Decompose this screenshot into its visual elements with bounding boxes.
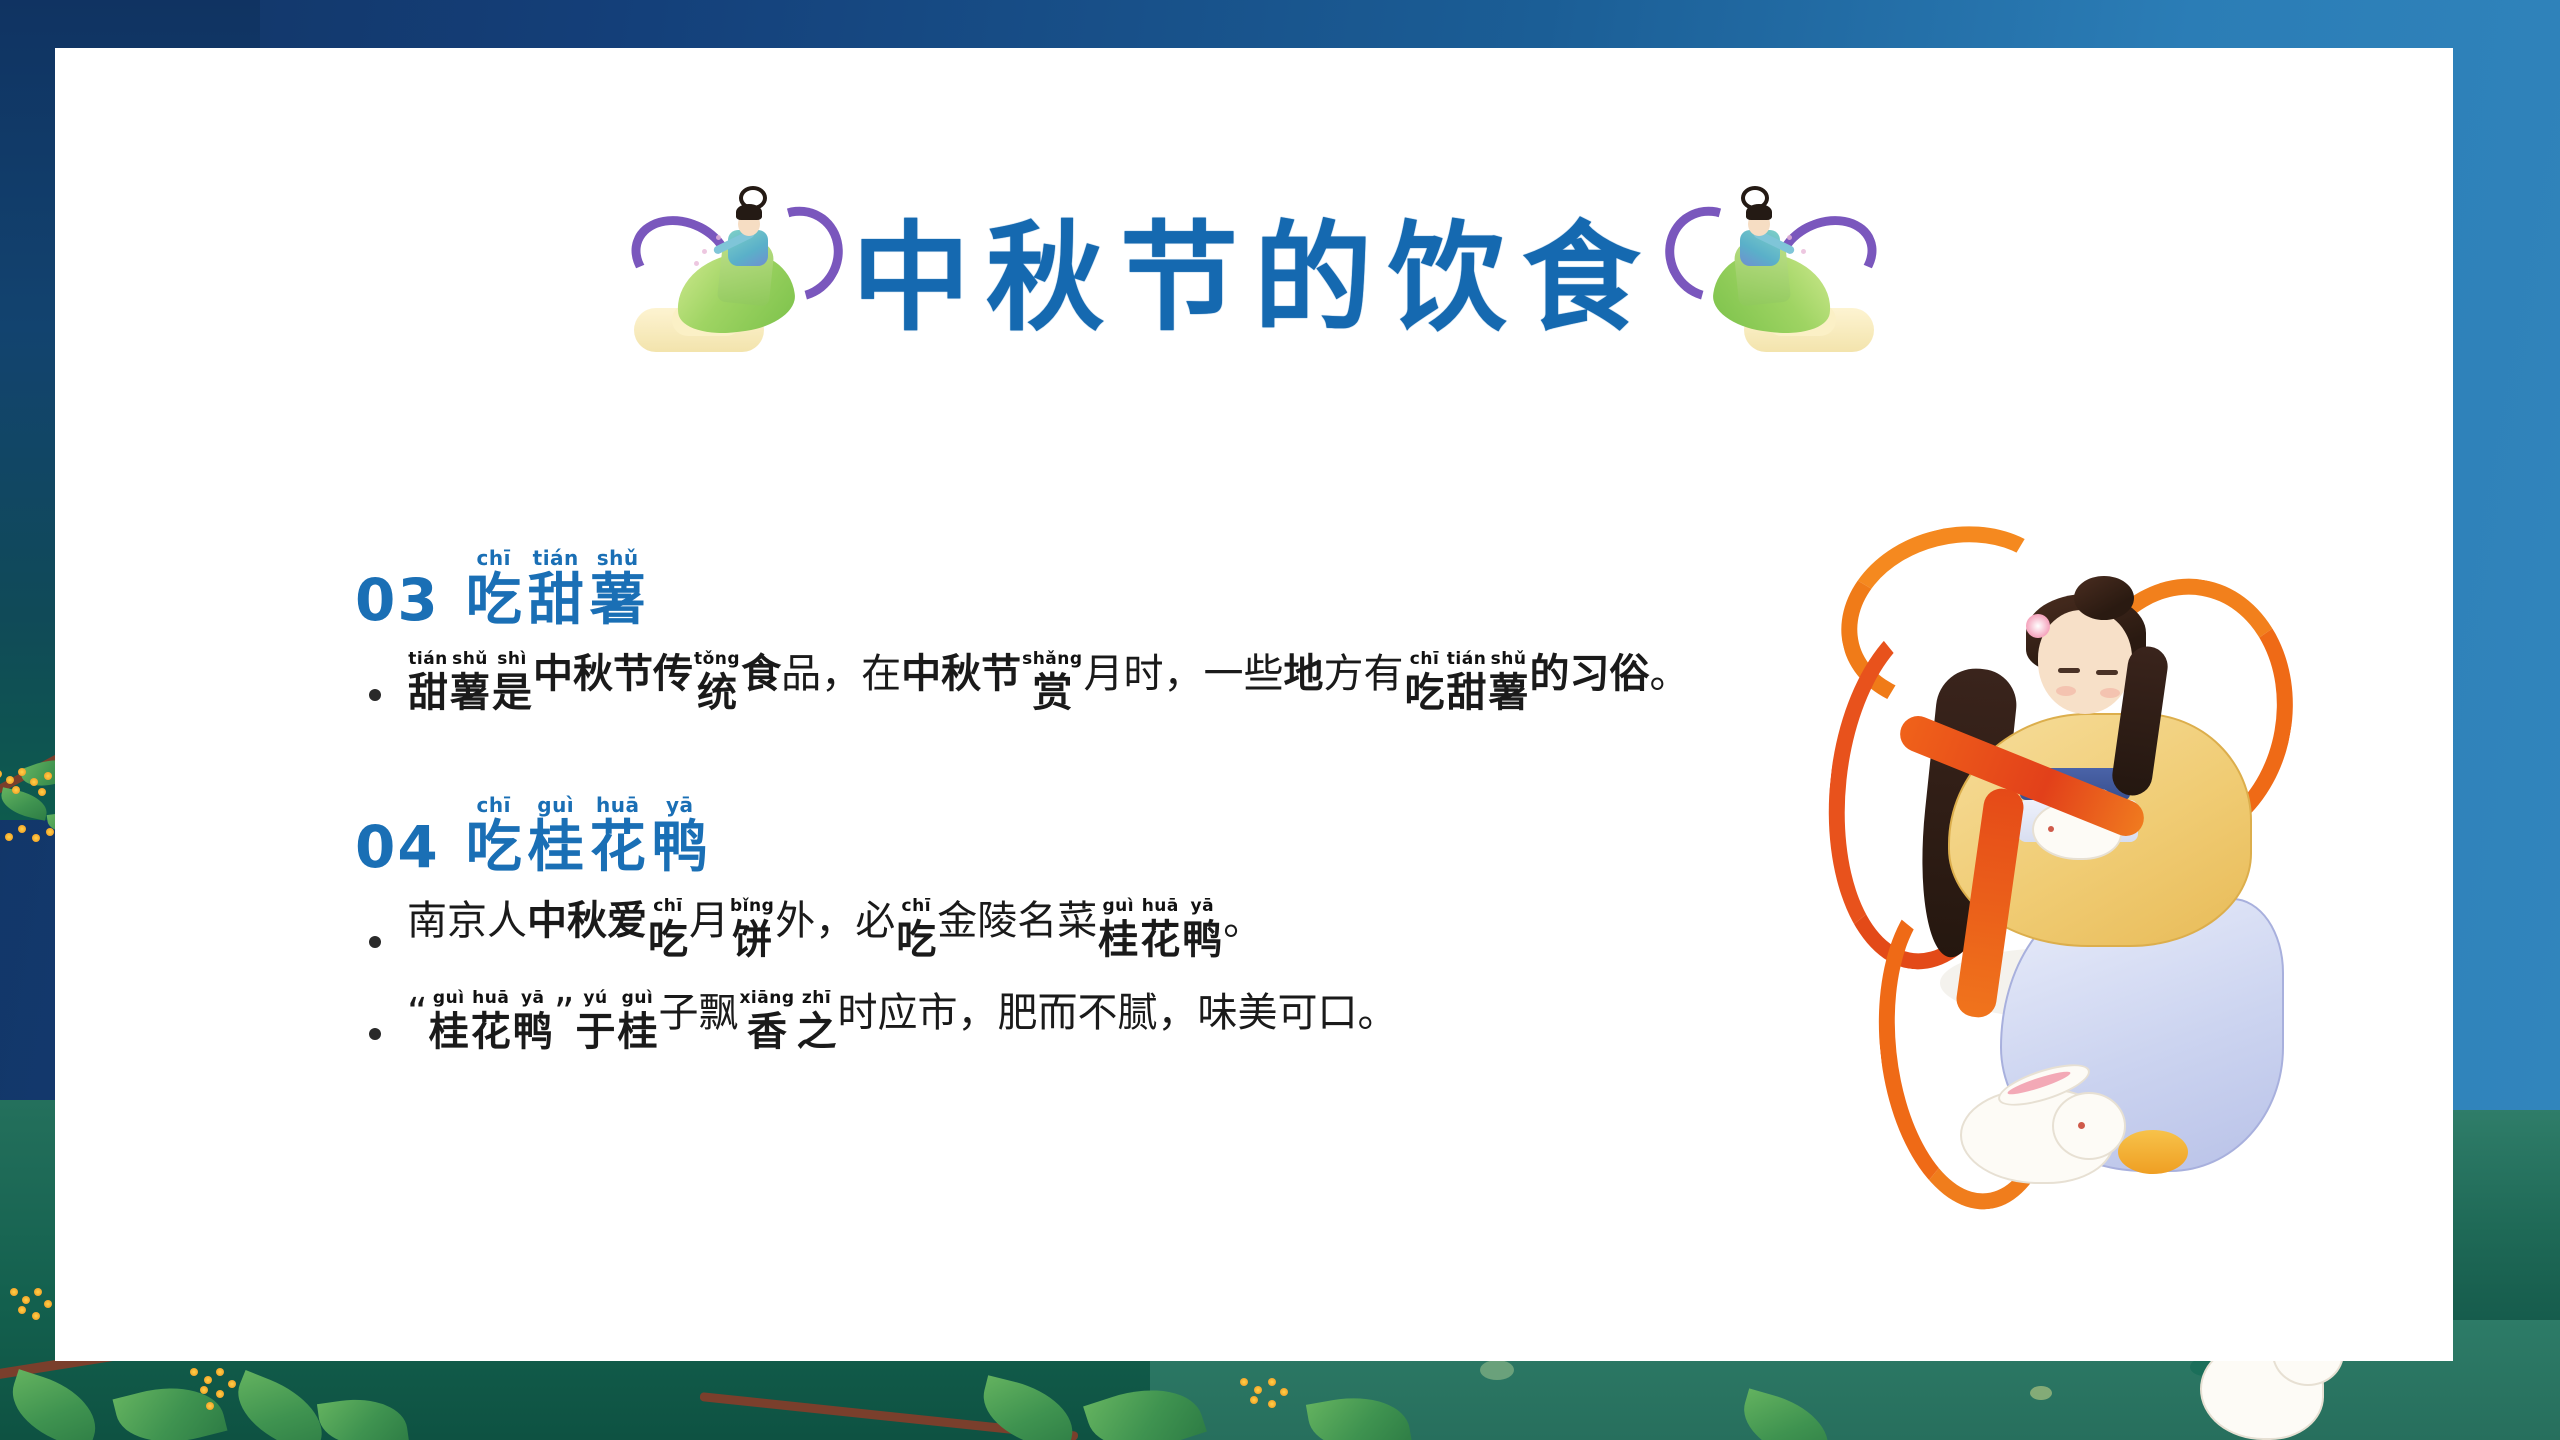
ruby-char: chī吃 [1405, 651, 1445, 713]
pinyin: yā [1191, 898, 1215, 917]
han-char: 赏 [1032, 673, 1072, 713]
han-char: 习 [1570, 654, 1610, 713]
han-char: 桂 [617, 1012, 657, 1052]
pinyin: huā [472, 990, 509, 1009]
han-char: 肥 [998, 993, 1038, 1052]
han-char: 。 [1223, 901, 1263, 960]
han-char: 时 [1124, 654, 1164, 713]
han-char: 。 [1650, 654, 1690, 713]
section-04-number: 04 [355, 818, 440, 876]
section-04-title: chī 吃 guì 桂 huā 花 yā 鸭 [466, 795, 708, 876]
ruby-char: tián 甜 [528, 548, 584, 629]
han-char: ” [554, 993, 575, 1052]
han-char: 方 [1324, 654, 1364, 713]
han-char: 食 [741, 654, 781, 713]
section-04: 04 chī 吃 guì 桂 huā 花 [355, 795, 1875, 1052]
ruby-char: huā 花 [590, 795, 646, 876]
han-char: 桂 [429, 1012, 469, 1052]
ruby-char: yā鸭 [1182, 898, 1222, 960]
section-03-bullets: tián甜shǔ薯shì是中秋节传tǒng统食品，在中秋节shǎng赏月时，一些… [355, 651, 1875, 713]
han-char: 时 [838, 993, 878, 1052]
han-char: 月 [689, 901, 729, 960]
change-flying-icon-left [624, 198, 834, 358]
han-char: 中 [533, 654, 573, 713]
ruby-char: yā 鸭 [652, 795, 708, 876]
han-char: 外 [775, 901, 815, 960]
ruby-char: chī 吃 [466, 548, 522, 629]
ruby-char: bǐng饼 [730, 898, 774, 960]
han-char: 京 [447, 901, 487, 960]
han-char: 花 [471, 1012, 511, 1052]
han-char: 名 [1017, 901, 1057, 960]
pinyin: chī [1410, 651, 1440, 670]
ruby-char: yú于 [575, 990, 615, 1052]
han-char: “ [407, 993, 428, 1052]
list-item: 南京人中秋爱chī吃月bǐng饼外，必chī吃金陵名菜guì桂huā花yā鸭。 [369, 898, 1875, 960]
han-char: 节 [613, 654, 653, 713]
section-04-bullets: 南京人中秋爱chī吃月bǐng饼外，必chī吃金陵名菜guì桂huā花yā鸭。 … [355, 898, 1875, 1052]
han-char: 爱 [607, 901, 647, 960]
han-char: 金 [937, 901, 977, 960]
han-char: 美 [1238, 993, 1278, 1052]
han-char: 些 [1244, 654, 1284, 713]
ruby-char: guì 桂 [528, 795, 584, 876]
han-char: 菜 [1057, 901, 1097, 960]
han-char: 俗 [1610, 654, 1650, 713]
han-char: 秋 [567, 901, 607, 960]
ruby-char: guì桂 [429, 990, 469, 1052]
section-03-title: chī 吃 tián 甜 shǔ 薯 [466, 548, 646, 629]
han-char: 传 [653, 654, 693, 713]
han-char: 南 [407, 901, 447, 960]
pinyin: shǔ [1491, 651, 1527, 670]
han-char: 月 [1084, 654, 1124, 713]
ruby-char: tián甜 [1447, 651, 1487, 713]
ruby-char: chī 吃 [466, 795, 522, 876]
pinyin: tǒng [694, 651, 740, 670]
section-03: 03 chī 吃 tián 甜 shǔ 薯 [355, 548, 1875, 713]
ruby-char: shǔ薯 [450, 651, 490, 713]
han-char: 一 [1204, 654, 1244, 713]
han-char: 口 [1318, 993, 1358, 1052]
han-char: 之 [797, 1012, 837, 1052]
pinyin: yā [521, 990, 545, 1009]
pinyin: xiāng [739, 990, 794, 1009]
ruby-char: huā花 [1140, 898, 1180, 960]
ruby-char: shǎng赏 [1022, 651, 1082, 713]
page-title-row: 中秋节的饮食 [55, 198, 2453, 358]
pinyin: bǐng [730, 898, 774, 917]
section-04-heading: 04 chī 吃 guì 桂 huā 花 [355, 795, 1875, 876]
bullet-text: tián甜shǔ薯shì是中秋节传tǒng统食品，在中秋节shǎng赏月时，一些… [407, 651, 1690, 713]
pinyin: guì [622, 990, 654, 1009]
bullet-dot-icon [369, 689, 381, 701]
ruby-char: guì桂 [1098, 898, 1138, 960]
han-char: 市 [918, 993, 958, 1052]
han-char: 甜 [408, 673, 448, 713]
han-char: ， [815, 901, 855, 960]
han-char: 花 [1140, 920, 1180, 960]
han-char: ， [1158, 993, 1198, 1052]
han-char: 可 [1278, 993, 1318, 1052]
han-char: 薯 [450, 673, 490, 713]
han-char: 中 [901, 654, 941, 713]
han-char: 香 [747, 1012, 787, 1052]
ruby-char: chī吃 [896, 898, 936, 960]
list-item: “guì桂huā花yā鸭”yú于guì桂子飘xiāng香zhī之时应市，肥而不腻… [369, 990, 1875, 1052]
han-char: 在 [861, 654, 901, 713]
han-char: 是 [492, 673, 532, 713]
han-char: 应 [878, 993, 918, 1052]
bullet-dot-icon [369, 1028, 381, 1040]
han-char: 节 [981, 654, 1021, 713]
han-char: 秋 [941, 654, 981, 713]
han-char: 而 [1038, 993, 1078, 1052]
change-with-rabbit-illustration [1820, 518, 2280, 1198]
han-char: 。 [1358, 993, 1398, 1052]
section-03-heading: 03 chī 吃 tián 甜 shǔ 薯 [355, 548, 1875, 629]
pinyin: guì [433, 990, 465, 1009]
han-char: 人 [487, 901, 527, 960]
ruby-char: guì桂 [617, 990, 657, 1052]
han-char: 鸭 [1182, 920, 1222, 960]
page-title: 中秋节的饮食 [852, 219, 1656, 337]
list-item: tián甜shǔ薯shì是中秋节传tǒng统食品，在中秋节shǎng赏月时，一些… [369, 651, 1875, 713]
han-char: ， [821, 654, 861, 713]
han-char: 的 [1530, 654, 1570, 713]
slide-root: 中秋节的饮食 03 [0, 0, 2560, 1440]
han-char: 有 [1364, 654, 1404, 713]
ruby-char: shǔ薯 [1489, 651, 1529, 713]
han-char: 吃 [896, 920, 936, 960]
ruby-char: shǔ 薯 [590, 548, 646, 629]
pinyin: zhī [802, 990, 831, 1009]
pinyin: shì [497, 651, 527, 670]
han-char: ， [958, 993, 998, 1052]
han-char: 中 [527, 901, 567, 960]
han-char: 薯 [1489, 673, 1529, 713]
han-char: 味 [1198, 993, 1238, 1052]
change-flying-icon-right [1674, 198, 1884, 358]
han-char: 桂 [1098, 920, 1138, 960]
content-body: 03 chī 吃 tián 甜 shǔ 薯 [355, 548, 1875, 1082]
han-char: 不 [1078, 993, 1118, 1052]
ruby-char: shì是 [492, 651, 532, 713]
pinyin: shǎng [1022, 651, 1082, 670]
bullet-text: “guì桂huā花yā鸭”yú于guì桂子飘xiāng香zhī之时应市，肥而不腻… [407, 990, 1398, 1052]
ruby-char: xiāng香 [739, 990, 794, 1052]
ruby-char: yā鸭 [513, 990, 553, 1052]
pinyin: shǔ [452, 651, 488, 670]
han-char: 于 [575, 1012, 615, 1052]
pinyin: tián [1447, 651, 1487, 670]
pinyin: chī [653, 898, 683, 917]
han-char: 秋 [573, 654, 613, 713]
ruby-char: huā花 [471, 990, 511, 1052]
ruby-char: chī吃 [648, 898, 688, 960]
pinyin: tián [408, 651, 448, 670]
han-char: 陵 [977, 901, 1017, 960]
han-char: 吃 [1405, 673, 1445, 713]
pinyin: chī [902, 898, 932, 917]
pinyin: guì [1102, 898, 1134, 917]
pinyin: yú [583, 990, 607, 1009]
han-char: 统 [697, 673, 737, 713]
han-char: 鸭 [513, 1012, 553, 1052]
slide-content-card: 中秋节的饮食 03 [55, 48, 2453, 1361]
han-char: 饼 [732, 920, 772, 960]
han-char: 甜 [1447, 673, 1487, 713]
bullet-dot-icon [369, 936, 381, 948]
ruby-char: zhī之 [797, 990, 837, 1052]
ruby-char: tǒng统 [694, 651, 740, 713]
section-gap [355, 743, 1875, 795]
han-char: ， [1164, 654, 1204, 713]
han-char: 腻 [1118, 993, 1158, 1052]
han-char: 品 [781, 654, 821, 713]
ruby-char: tián甜 [408, 651, 448, 713]
han-char: 子 [658, 993, 698, 1052]
han-char: 必 [855, 901, 895, 960]
han-char: 飘 [698, 993, 738, 1052]
pinyin: huā [1142, 898, 1179, 917]
han-char: 地 [1284, 654, 1324, 713]
han-char: 吃 [648, 920, 688, 960]
section-03-number: 03 [355, 571, 440, 629]
bullet-text: 南京人中秋爱chī吃月bǐng饼外，必chī吃金陵名菜guì桂huā花yā鸭。 [407, 898, 1263, 960]
